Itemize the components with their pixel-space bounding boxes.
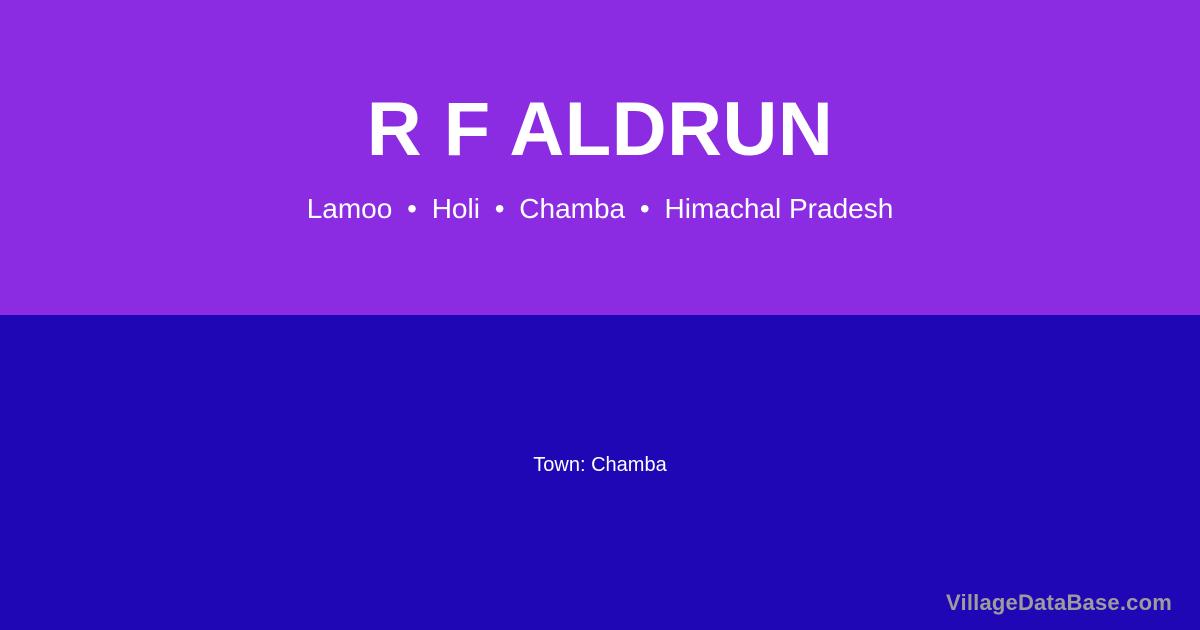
breadcrumb-separator-icon: • (633, 192, 657, 226)
breadcrumb: Lamoo • Holi • Chamba • Himachal Pradesh (307, 192, 894, 226)
banner-body: Town: Chamba (0, 315, 1200, 630)
page-title: R F ALDRUN (367, 90, 834, 170)
breadcrumb-item-block: Holi (432, 193, 480, 224)
village-info-banner: R F ALDRUN Lamoo • Holi • Chamba • Himac… (0, 0, 1200, 630)
breadcrumb-item-state: Himachal Pradesh (665, 193, 894, 224)
breadcrumb-separator-icon: • (400, 192, 424, 226)
site-watermark: VillageDataBase.com (946, 590, 1172, 616)
town-detail-text: Town: Chamba (533, 452, 666, 478)
breadcrumb-item-district: Chamba (519, 193, 625, 224)
breadcrumb-separator-icon: • (488, 192, 512, 226)
banner-header: R F ALDRUN Lamoo • Holi • Chamba • Himac… (0, 0, 1200, 315)
breadcrumb-item-village: Lamoo (307, 193, 393, 224)
